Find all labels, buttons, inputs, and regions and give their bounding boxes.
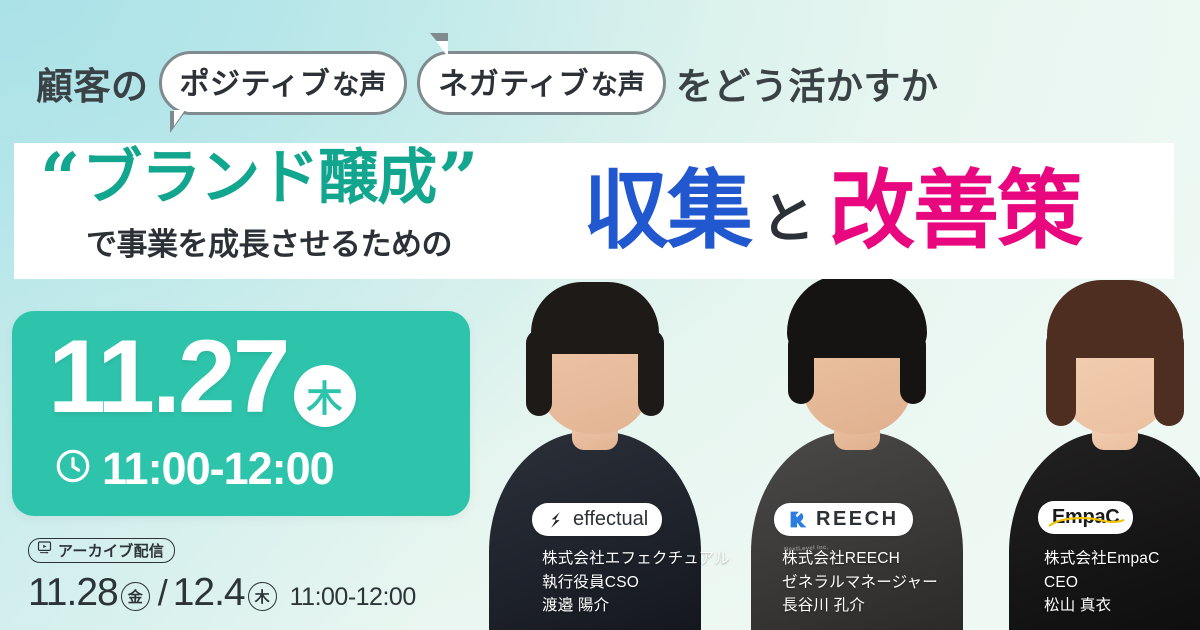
keyword-conjunction: と — [761, 192, 815, 246]
quote-close: ” — [438, 146, 478, 213]
event-date-card: 11.27 木 11:00-12:00 — [12, 311, 470, 516]
speaker-role-3: CEO — [1044, 571, 1160, 595]
brand-phrase: “ ブランド醸成 ” — [40, 146, 479, 213]
event-day-of-week-badge: 木 — [294, 365, 356, 427]
event-date-row: 11.27 木 — [48, 323, 356, 432]
archive-dates: 11.28 金 / 12.4 木 11:00-12:00 — [28, 571, 416, 615]
brand-keyword: ブランド醸成 — [82, 146, 436, 209]
keyword-collection: 収集 — [583, 168, 751, 254]
archive-video-icon — [37, 540, 52, 560]
speaker-name-2: 長谷川 孔介 — [782, 594, 938, 618]
negative-tail-text: な声 — [591, 63, 645, 102]
speaker-name-1: 渡邉 陽介 — [542, 594, 730, 618]
archive-badge-label: アーカイブ配信 — [58, 540, 164, 561]
event-time: 11:00-12:00 — [102, 446, 334, 491]
archive-date-separator: / — [158, 572, 168, 614]
title-left-group: “ ブランド醸成 ” で事業を成長させるための — [14, 143, 589, 279]
headline-prefix: 顧客の — [36, 56, 149, 110]
positive-tail-text: な声 — [332, 63, 386, 102]
speaker-card-3: EmpaC 株式会社EmpaC CEO 松山 真衣 — [990, 290, 1200, 630]
speaker-card-1: effectual 株式会社エフェクチュアル 執行役員CSO 渡邉 陽介 — [470, 290, 720, 630]
main-title-panel: “ ブランド醸成 ” で事業を成長させるための 収集 と 改善策 — [14, 143, 1174, 279]
speaker-hair-1 — [531, 282, 659, 354]
empac-logo-icon: EmpaC — [1052, 506, 1119, 529]
archive-date-2-dow: 木 — [248, 582, 277, 611]
speaker-logo-text-2: REECH — [816, 508, 899, 531]
speaker-company-1: 株式会社エフェクチュアル — [542, 547, 730, 571]
speaker-caption-2: 株式会社REECH ゼネラルマネージャー 長谷川 孔介 — [782, 547, 938, 618]
top-headline: 顧客の ポジティブ な声 ネガティブ な声 をどう活かすか — [36, 52, 938, 114]
speaker-caption-3: 株式会社EmpaC CEO 松山 真衣 — [1044, 547, 1160, 618]
speaker-logo-pill-2: REECH — [774, 503, 913, 536]
event-time-row: 11:00-12:00 — [54, 446, 334, 491]
positive-highlight-text: ポジティブ — [180, 59, 331, 105]
speaker-company-3: 株式会社EmpaC — [1044, 547, 1160, 571]
keyword-improvement: 改善策 — [829, 168, 1081, 254]
quote-open: “ — [40, 146, 80, 213]
archive-info: アーカイブ配信 11.28 金 / 12.4 木 11:00-12:00 — [28, 538, 416, 615]
clock-icon — [54, 447, 92, 490]
archive-badge: アーカイブ配信 — [28, 538, 175, 563]
archive-time: 11:00-12:00 — [290, 583, 416, 612]
speech-bubble-negative: ネガティブ な声 — [417, 51, 666, 115]
speaker-logo-pill-1: effectual — [532, 503, 662, 536]
speaker-role-1: 執行役員CSO — [542, 571, 730, 595]
speaker-logo-pill-3: EmpaC — [1038, 501, 1133, 534]
title-right-group: 収集 と 改善策 — [583, 168, 1081, 254]
speaker-caption-1: 株式会社エフェクチュアル 執行役員CSO 渡邉 陽介 — [542, 547, 730, 618]
speaker-hair-2 — [787, 274, 927, 358]
speaker-role-2: ゼネラルマネージャー — [782, 571, 938, 595]
speaker-hair-3 — [1047, 280, 1183, 358]
archive-date-1-dow: 金 — [121, 582, 150, 611]
speaker-logo-text-1: effectual — [573, 508, 648, 531]
negative-highlight-text: ネガティブ — [438, 59, 589, 105]
speech-bubble-positive: ポジティブ な声 — [159, 51, 408, 115]
reech-logo-icon — [788, 509, 809, 530]
title-subline: で事業を成長させるための — [86, 219, 452, 264]
speaker-name-3: 松山 真衣 — [1044, 594, 1160, 618]
speaker-card-2: NextLevel Inc. REECH 株式会社REECH ゼネラルマネージャ… — [732, 290, 982, 630]
archive-date-1: 11.28 — [28, 571, 118, 615]
effectual-logo-icon — [546, 510, 566, 530]
event-date: 11.27 — [48, 323, 288, 432]
speaker-company-2: 株式会社REECH — [782, 547, 938, 571]
webinar-banner: 顧客の ポジティブ な声 ネガティブ な声 をどう活かすか “ ブランド醸成 ”… — [0, 0, 1200, 630]
archive-date-2: 12.4 — [173, 571, 245, 615]
headline-suffix: をどう活かすか — [676, 56, 939, 110]
